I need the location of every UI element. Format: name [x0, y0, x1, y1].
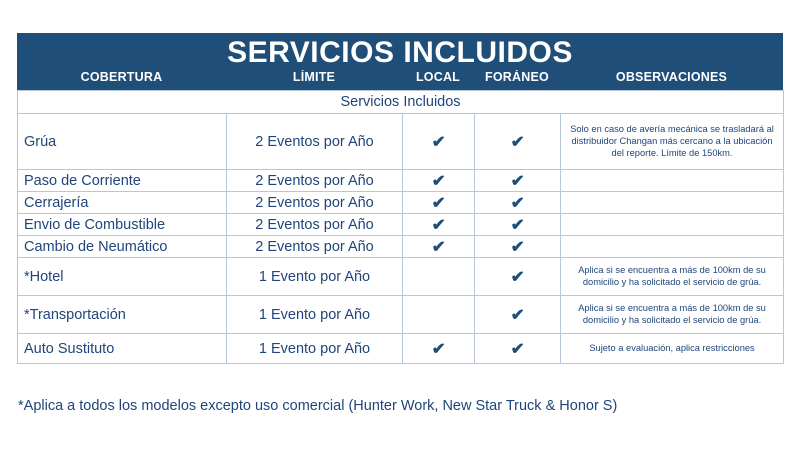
check-icon: ✔	[510, 174, 524, 190]
check-icon: ✔	[431, 218, 445, 234]
cell-cobertura: Cerrajería	[18, 192, 227, 214]
document-page: SERVICIOS INCLUIDOS COBERTURA LÍMITE LOC…	[0, 0, 800, 450]
cell-observaciones: Aplica si se encuentra a más de 100km de…	[561, 296, 784, 334]
cell-foraneo: ✔	[475, 192, 561, 214]
table-row: Envio de Combustible2 Eventos por Año✔✔	[18, 214, 784, 236]
cell-local: ✔	[403, 334, 475, 364]
cell-limite: 2 Eventos por Año	[227, 170, 403, 192]
cell-foraneo: ✔	[475, 296, 561, 334]
table-row: Cambio de Neumático2 Eventos por Año✔✔	[18, 236, 784, 258]
page-title: SERVICIOS INCLUIDOS	[17, 37, 783, 70]
cell-limite: 1 Evento por Año	[227, 296, 403, 334]
check-icon: ✔	[431, 240, 445, 256]
cell-observaciones	[561, 170, 784, 192]
cell-observaciones: Aplica si se encuentra a más de 100km de…	[561, 258, 784, 296]
check-icon: ✔	[510, 270, 524, 286]
table-row: Paso de Corriente2 Eventos por Año✔✔	[18, 170, 784, 192]
cell-observaciones: Solo en caso de avería mecánica se trasl…	[561, 114, 784, 170]
table-row: Grúa2 Eventos por Año✔✔Solo en caso de a…	[18, 114, 784, 170]
cell-cobertura: *Hotel	[18, 258, 227, 296]
cell-limite: 2 Eventos por Año	[227, 214, 403, 236]
column-header-cobertura: COBERTURA	[17, 70, 226, 84]
check-icon: ✔	[431, 342, 445, 358]
cell-local: ✔	[403, 170, 475, 192]
services-table: Servicios Incluidos Grúa2 Eventos por Añ…	[17, 90, 784, 364]
cell-limite: 1 Evento por Año	[227, 334, 403, 364]
cell-observaciones	[561, 236, 784, 258]
section-row: Servicios Incluidos	[18, 91, 784, 114]
table-row: *Hotel1 Evento por Año✔Aplica si se encu…	[18, 258, 784, 296]
column-header-row: COBERTURA LÍMITE LOCAL FORÁNEO OBSERVACI…	[17, 70, 783, 87]
check-icon: ✔	[510, 196, 524, 212]
cell-local	[403, 296, 475, 334]
cell-foraneo: ✔	[475, 114, 561, 170]
column-header-limite: LÍMITE	[226, 70, 402, 84]
check-icon: ✔	[510, 240, 524, 256]
cell-observaciones	[561, 192, 784, 214]
check-icon: ✔	[431, 174, 445, 190]
column-header-foraneo: FORÁNEO	[474, 70, 560, 84]
table-row: Cerrajería2 Eventos por Año✔✔	[18, 192, 784, 214]
cell-cobertura: Paso de Corriente	[18, 170, 227, 192]
cell-cobertura: *Transportación	[18, 296, 227, 334]
check-icon: ✔	[510, 218, 524, 234]
cell-cobertura: Grúa	[18, 114, 227, 170]
footnote: *Aplica a todos los modelos excepto uso …	[18, 398, 617, 414]
cell-cobertura: Auto Sustituto	[18, 334, 227, 364]
check-icon: ✔	[431, 135, 445, 151]
section-row-label: Servicios Incluidos	[18, 91, 784, 114]
check-icon: ✔	[510, 308, 524, 324]
check-icon: ✔	[510, 135, 524, 151]
cell-local: ✔	[403, 114, 475, 170]
cell-local: ✔	[403, 236, 475, 258]
cell-foraneo: ✔	[475, 170, 561, 192]
cell-cobertura: Envio de Combustible	[18, 214, 227, 236]
column-header-observaciones: OBSERVACIONES	[560, 70, 783, 84]
check-icon: ✔	[431, 196, 445, 212]
table-banner: SERVICIOS INCLUIDOS COBERTURA LÍMITE LOC…	[17, 33, 783, 90]
column-header-local: LOCAL	[402, 70, 474, 84]
cell-cobertura: Cambio de Neumático	[18, 236, 227, 258]
cell-limite: 2 Eventos por Año	[227, 236, 403, 258]
cell-local	[403, 258, 475, 296]
cell-local: ✔	[403, 192, 475, 214]
services-table-block: SERVICIOS INCLUIDOS COBERTURA LÍMITE LOC…	[17, 33, 783, 364]
check-icon: ✔	[510, 342, 524, 358]
cell-foraneo: ✔	[475, 258, 561, 296]
table-row: Auto Sustituto1 Evento por Año✔✔Sujeto a…	[18, 334, 784, 364]
cell-local: ✔	[403, 214, 475, 236]
cell-foraneo: ✔	[475, 334, 561, 364]
cell-limite: 2 Eventos por Año	[227, 114, 403, 170]
table-row: *Transportación1 Evento por Año✔Aplica s…	[18, 296, 784, 334]
cell-observaciones: Sujeto a evaluación, aplica restriccione…	[561, 334, 784, 364]
cell-foraneo: ✔	[475, 236, 561, 258]
cell-limite: 2 Eventos por Año	[227, 192, 403, 214]
cell-limite: 1 Evento por Año	[227, 258, 403, 296]
cell-foraneo: ✔	[475, 214, 561, 236]
cell-observaciones	[561, 214, 784, 236]
table-body: Servicios Incluidos Grúa2 Eventos por Añ…	[18, 91, 784, 364]
